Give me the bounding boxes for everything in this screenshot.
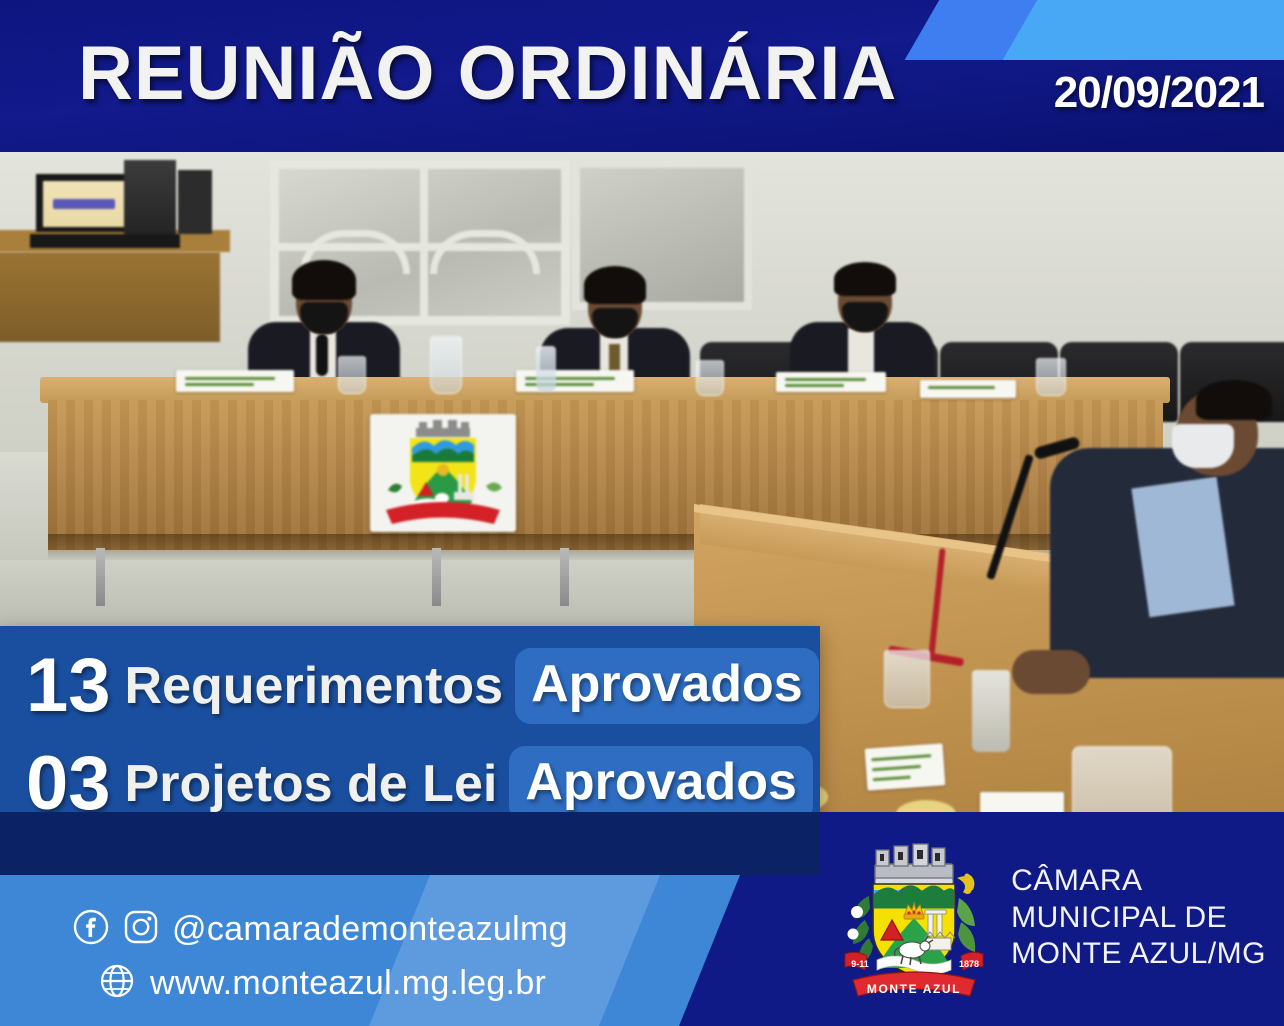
website-row[interactable]: www.monteazul.mg.leg.br	[98, 962, 546, 1005]
photo-microphone	[316, 334, 328, 376]
brand-name: CÂMARA MUNICIPAL DE MONTE AZUL/MG	[1011, 863, 1266, 973]
photo-name-plate	[516, 370, 634, 392]
photo-person-speaker-hair	[292, 260, 356, 300]
photo-dais-leg	[432, 548, 441, 606]
stat-row-projetos: 03 Projetos de Lei Aprovados	[26, 746, 813, 822]
facebook-icon[interactable]	[72, 908, 110, 951]
ribbon-text: MONTE AZUL	[867, 982, 961, 996]
photo-water-glass	[338, 356, 366, 394]
social-handle-text: @camarademonteazulmg	[172, 910, 568, 949]
photo-person-foreground-hand	[1012, 650, 1090, 694]
photo-person-foreground-hair	[1196, 380, 1272, 420]
stat-status-projetos: Aprovados	[509, 746, 813, 822]
stat-row-requerimentos: 13 Requerimentos Aprovados	[26, 648, 819, 724]
photo-water-pitcher	[430, 336, 462, 394]
website-text: www.monteazul.mg.leg.br	[150, 964, 546, 1003]
mural-crown-icon	[875, 844, 953, 885]
photo-water-jar	[1072, 746, 1172, 812]
coat-of-arms: MONTE AZUL 9-11 1878	[839, 834, 989, 1002]
photo-person-foreground-shirt	[1131, 477, 1234, 618]
meeting-date: 20/09/2021	[1054, 68, 1264, 118]
header-accent-shape-light	[1003, 0, 1284, 60]
photo-monitor-screen	[43, 181, 131, 227]
photo-person-foreground-mask	[1172, 424, 1234, 468]
social-handle-row[interactable]: @camarademonteazulmg	[72, 908, 568, 951]
ribbon-date-left: 9-11	[851, 959, 869, 969]
photo-pc-tower	[124, 160, 176, 236]
photo-name-plate	[980, 792, 1064, 812]
sugarcane-branch-decoration	[957, 876, 975, 952]
brand-line-2: MUNICIPAL DE	[1011, 900, 1266, 937]
photo-water-glass	[1036, 358, 1066, 396]
photo-water-bottle	[972, 670, 1010, 752]
photo-water-glass	[696, 360, 724, 396]
photo-coat-of-arms-plaque	[370, 414, 516, 532]
ribbon-date-right: 1878	[959, 959, 979, 969]
photo-name-plate	[176, 370, 294, 392]
stat-label-requerimentos: Requerimentos	[125, 660, 504, 712]
stat-count-projetos: 03	[26, 746, 111, 822]
photo-speaker	[178, 170, 212, 234]
brand-block: MONTE AZUL 9-11 1878 CÂMARA MUNICIPAL DE…	[839, 834, 1266, 1002]
photo-monitor-waveform	[53, 199, 115, 209]
stat-count-requerimentos: 13	[26, 648, 111, 724]
stat-label-projetos: Projetos de Lei	[125, 758, 498, 810]
photo-person-right-hair	[834, 262, 896, 296]
brand-line-1: CÂMARA	[1011, 863, 1266, 900]
social-media-poster: REUNIÃO ORDINÁRIA 20/09/2021	[0, 0, 1284, 1026]
photo-dais-front	[48, 400, 1163, 550]
photo-monitor	[36, 174, 136, 232]
photo-dais-leg	[96, 548, 105, 606]
page-title: REUNIÃO ORDINÁRIA	[78, 36, 897, 112]
photo-keyboard	[30, 234, 180, 248]
photo-coat-of-arms-icon	[370, 414, 516, 532]
photo-name-plate	[776, 372, 886, 392]
globe-icon[interactable]	[98, 962, 136, 1005]
stat-status-requerimentos: Aprovados	[515, 648, 819, 724]
brand-line-3: MONTE AZUL/MG	[1011, 936, 1266, 973]
footer-bar: @camarademonteazulmg www.monteazul.mg.le…	[0, 812, 1284, 1026]
photo-water-glass	[884, 650, 930, 708]
photo-name-plate	[920, 380, 1016, 398]
instagram-icon[interactable]	[122, 908, 160, 951]
header-bar: REUNIÃO ORDINÁRIA 20/09/2021	[0, 0, 1284, 152]
photo-sanitizer-bottle	[536, 346, 556, 392]
photo-dais-leg	[560, 548, 569, 606]
photo-computer-desk-front	[0, 252, 220, 342]
photo-name-plate	[865, 743, 946, 790]
footer-navy-strip	[0, 812, 820, 875]
photo-person-center-hair	[584, 266, 646, 304]
